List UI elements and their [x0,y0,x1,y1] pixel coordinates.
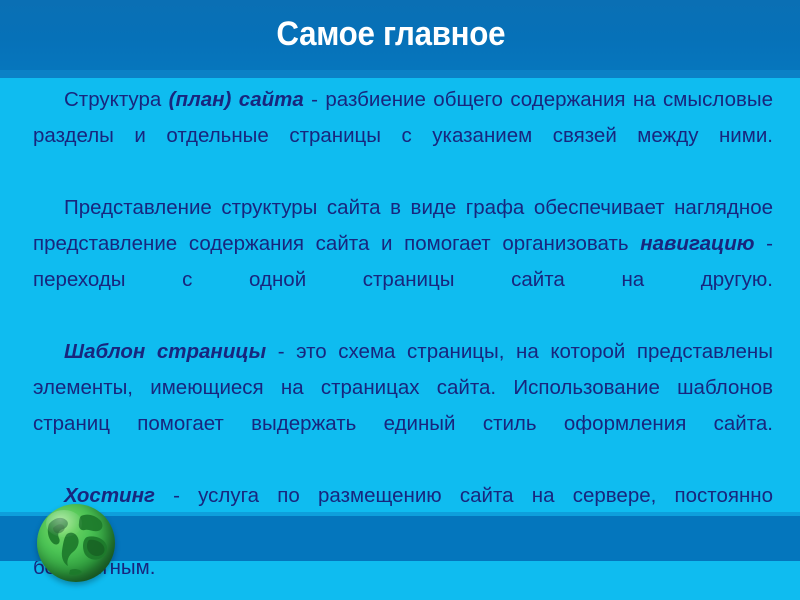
slide: Самое главное Структура (план) сайта - р… [0,0,800,600]
paragraph-1-plain: Структура [64,88,169,111]
paragraph-structure: Структура (план) сайта - разбиение общег… [33,82,773,190]
paragraph-navigation: Представление структуры сайта в виде гра… [33,190,773,334]
paragraph-2-term: навигацию [640,232,754,255]
globe-icon [37,504,115,582]
paragraph-1-term: (план) сайта [169,88,304,111]
paragraph-template: Шаблон страницы - это схема страницы, на… [33,334,773,478]
paragraph-3-term: Шаблон страницы [64,340,266,363]
bottom-band [0,516,800,561]
header-underline-strip [0,70,800,78]
page-title: Самое главное [32,11,768,57]
